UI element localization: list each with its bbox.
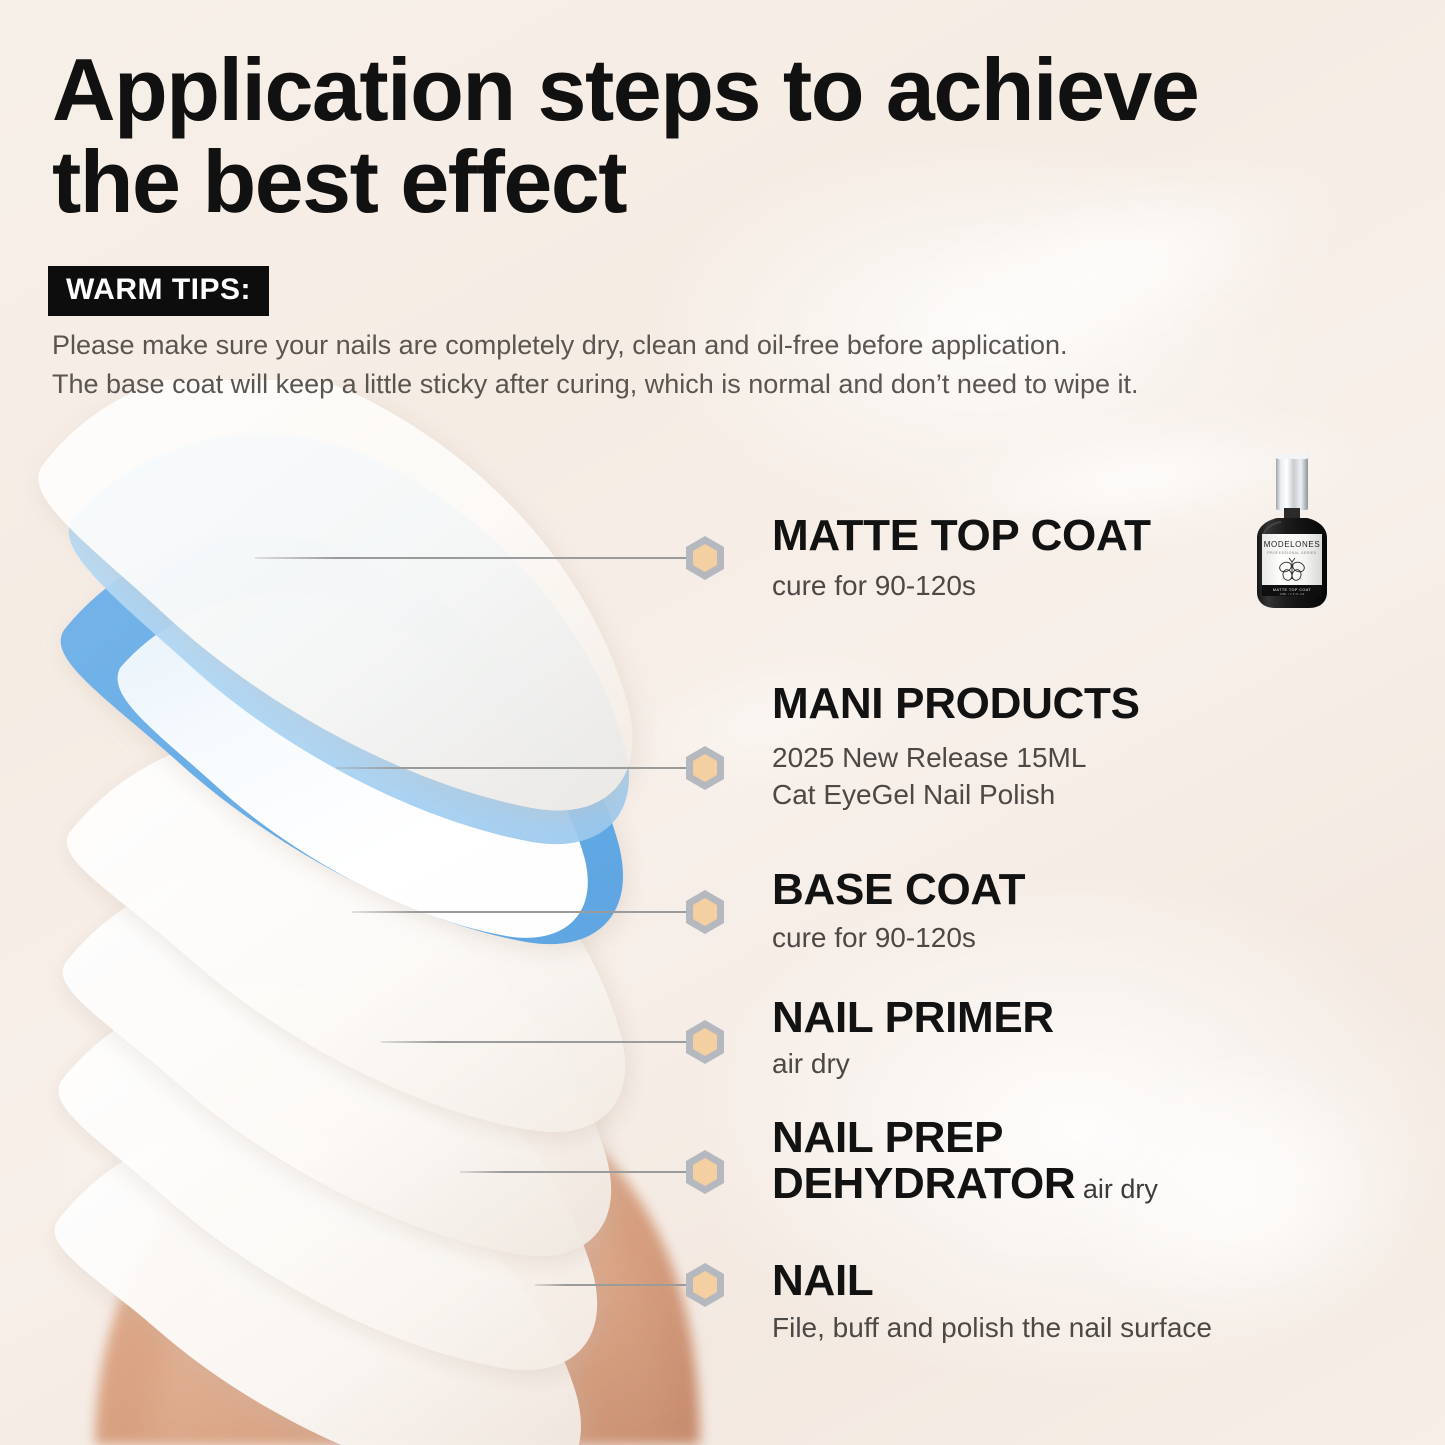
callout-connector-line: [535, 1284, 705, 1286]
callout-connector-line: [336, 767, 705, 769]
callout-title-line: NAIL PRIMER: [772, 995, 1054, 1041]
callout-inline-subtitle: air dry: [1075, 1174, 1158, 1204]
callout-hexagon-marker: [681, 744, 729, 792]
callout-hexagon-marker: [681, 1148, 729, 1196]
warm-tips-badge: WARM TIPS:: [48, 266, 269, 316]
callout-title: NAIL: [772, 1258, 873, 1304]
bottle-label-text: MATTE TOP COAT: [1273, 588, 1311, 592]
callout-subtitle: File, buff and polish the nail surface: [772, 1310, 1212, 1347]
callout-title-line: MATTE TOP COAT: [772, 513, 1151, 559]
callout-subtitle: 2025 New Release 15ML Cat EyeGel Nail Po…: [772, 740, 1086, 814]
callout-title: BASE COAT: [772, 867, 1025, 913]
callout-subtitle: cure for 90-120s: [772, 568, 976, 605]
callout-connector-line: [255, 557, 705, 559]
callout-title-line: DEHYDRATOR air dry: [772, 1161, 1158, 1207]
svg-text:15ML / 0.5 FL.OZ: 15ML / 0.5 FL.OZ: [1279, 592, 1304, 596]
callout-connector-line: [381, 1041, 705, 1043]
callout-title-line: BASE COAT: [772, 867, 1025, 913]
callout-title: MATTE TOP COAT: [772, 513, 1151, 559]
callout-title-line: NAIL: [772, 1258, 873, 1304]
product-bottle-image: MODELONES PROFESSIONAL SERIES MATTE TOP …: [1243, 452, 1341, 612]
callout-hexagon-marker: [681, 1018, 729, 1066]
callout-connector-line: [352, 911, 705, 913]
callout-subtitle: air dry: [772, 1046, 850, 1083]
callout-connector-line: [460, 1171, 705, 1173]
callout-title: NAIL PREPDEHYDRATOR air dry: [772, 1115, 1158, 1207]
page-headline: Application steps to achieve the best ef…: [52, 44, 1392, 229]
callout-title-line: MANI PRODUCTS: [772, 681, 1140, 727]
bottle-brand-text: MODELONES: [1264, 540, 1321, 549]
callout-title: NAIL PRIMER: [772, 995, 1054, 1041]
warm-tips-body: Please make sure your nails are complete…: [52, 326, 1412, 405]
callout-hexagon-marker: [681, 1261, 729, 1309]
callout-subtitle: cure for 90-120s: [772, 920, 976, 957]
callout-title: MANI PRODUCTS: [772, 681, 1140, 727]
callout-title-line: NAIL PREP: [772, 1115, 1158, 1161]
callout-hexagon-marker: [681, 888, 729, 936]
svg-text:PROFESSIONAL SERIES: PROFESSIONAL SERIES: [1267, 551, 1316, 555]
callout-hexagon-marker: [681, 534, 729, 582]
infographic-canvas: Application steps to achieve the best ef…: [0, 0, 1445, 1445]
